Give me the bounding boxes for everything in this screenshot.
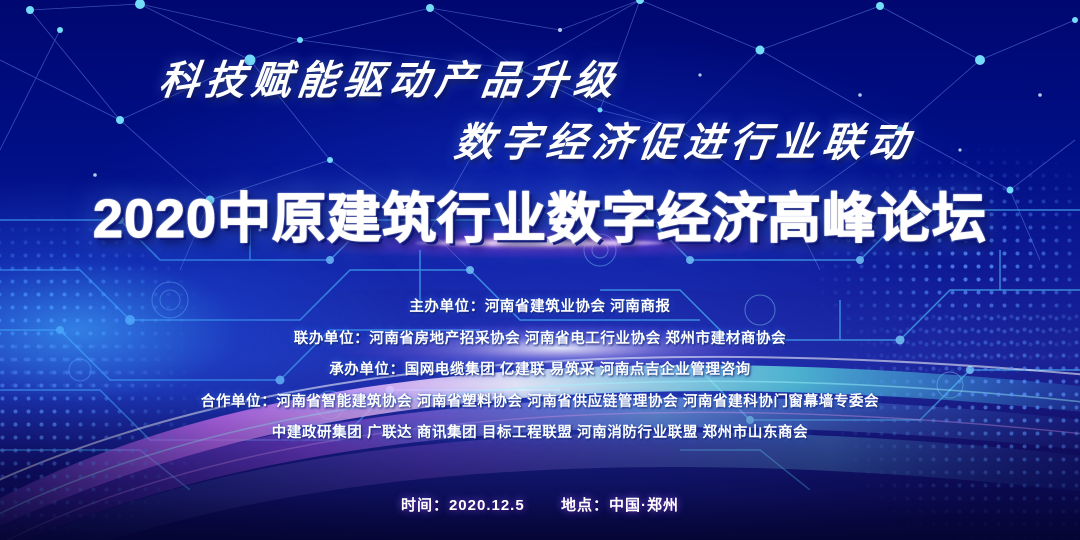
organizer-line-partners-continued: 中建政研集团 广联达 商讯集团 目标工程联盟 河南消防行业联盟 郑州市山东商会 bbox=[0, 426, 1080, 441]
calligraphy-line-2: 数字经济促进行业联动 bbox=[0, 110, 1080, 168]
organizer-line-host: 主办单位：河南省建筑业协会 河南商报 bbox=[0, 300, 1080, 315]
event-poster: 科技赋能驱动产品升级 数字经济促进行业联动 2020中原建筑行业数字经济高峰论坛… bbox=[0, 0, 1080, 540]
event-meta: 时间：2020.12.5 地点：中国·郑州 bbox=[0, 494, 1080, 515]
event-date: 时间：2020.12.5 bbox=[401, 497, 525, 514]
calligraphy-line-1: 科技赋能驱动产品升级 bbox=[0, 48, 1080, 106]
organizer-line-undertaker: 承办单位：国网电缆集团 亿建联 易筑采 河南点吉企业管理咨询 bbox=[0, 363, 1080, 378]
organizer-line-co-host: 联办单位：河南省房地产招采协会 河南省电工行业协会 郑州市建材商协会 bbox=[0, 332, 1080, 347]
organizer-block: 主办单位：河南省建筑业协会 河南商报 联办单位：河南省房地产招采协会 河南省电工… bbox=[0, 300, 1080, 441]
organizer-line-partners: 合作单位：河南省智能建筑协会 河南省塑料协会 河南省供应链管理协会 河南省建科协… bbox=[0, 395, 1080, 410]
event-location: 地点：中国·郑州 bbox=[561, 497, 679, 514]
main-title: 2020中原建筑行业数字经济高峰论坛 bbox=[0, 174, 1080, 253]
